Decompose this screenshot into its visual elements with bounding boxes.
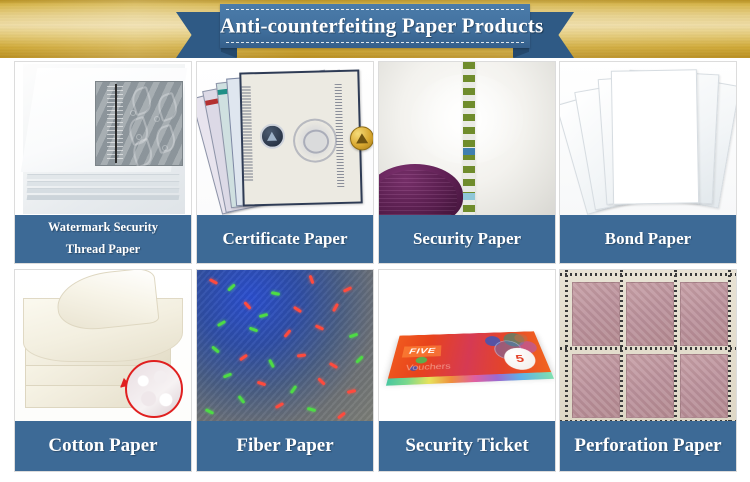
voucher-ticket-graphic: FIVE Vouchers 5 <box>387 331 551 380</box>
perforation-line <box>674 270 677 424</box>
product-image-bond-paper <box>560 62 736 216</box>
purple-spool-object <box>379 164 463 216</box>
bond-paper-graphic <box>560 62 736 216</box>
security-thread-line <box>115 84 117 163</box>
embossed-seal <box>293 118 338 163</box>
product-caption-cotton-paper: Cotton Paper <box>15 421 191 471</box>
watermark-dot <box>162 145 168 151</box>
product-image-perforation-paper <box>560 270 736 424</box>
caption-line-2: Thread Paper <box>48 239 158 261</box>
product-card-watermark-security-thread-paper[interactable]: Watermark Security Thread Paper <box>14 61 192 264</box>
perforation-line <box>620 270 623 424</box>
paper-texture-overlay <box>197 270 373 424</box>
paper-stack-graphic <box>23 64 185 214</box>
ribbon-banner: Anti-counterfeiting Paper Products <box>220 4 530 48</box>
cotton-sheet-folded-corner <box>54 270 159 333</box>
product-card-bond-paper[interactable]: Bond Paper <box>559 61 737 264</box>
stamp-panel <box>572 282 620 346</box>
sheet-edge <box>27 195 180 200</box>
watermark-dot <box>154 116 160 122</box>
product-image-fiber-paper <box>197 270 373 424</box>
product-caption-security-ticket: Security Ticket <box>379 421 555 471</box>
holographic-segment <box>463 193 475 200</box>
gold-seal <box>350 126 373 151</box>
fiber-paper-uv-graphic <box>197 270 373 424</box>
dark-seal <box>260 123 286 149</box>
ticket-brand-label: FIVE <box>402 345 442 357</box>
product-image-watermark-security-thread-paper <box>15 62 191 216</box>
bond-sheet-front <box>611 69 699 204</box>
page-title: Anti-counterfeiting Paper Products <box>220 14 530 39</box>
security-paper-graphic <box>379 62 555 216</box>
product-caption-perforation-paper: Perforation Paper <box>560 421 736 471</box>
stamp-panel <box>680 282 728 346</box>
product-image-security-ticket: FIVE Vouchers 5 <box>379 270 555 424</box>
sheet-edge <box>27 181 180 186</box>
perforation-line <box>728 270 731 424</box>
windowed-security-thread <box>463 62 475 216</box>
perforation-sheet-graphic <box>560 270 736 424</box>
watermark-dot <box>136 134 142 140</box>
ticket-backdrop: FIVE Vouchers 5 <box>379 270 555 424</box>
product-card-fiber-paper[interactable]: Fiber Paper <box>196 269 374 472</box>
stamp-panel <box>572 354 620 418</box>
page-banner: Anti-counterfeiting Paper Products <box>0 0 750 58</box>
product-caption-certificate-paper: Certificate Paper <box>197 215 373 263</box>
perforation-line <box>560 273 736 276</box>
cotton-fiber-magnifier-callout <box>125 360 183 418</box>
certificate-stack-graphic <box>197 62 373 216</box>
product-caption-fiber-paper: Fiber Paper <box>197 421 373 471</box>
product-image-certificate-paper <box>197 62 373 216</box>
stamp-panel <box>626 354 674 418</box>
holographic-segment <box>463 148 475 155</box>
watermark-dot <box>130 110 136 116</box>
product-image-cotton-paper <box>15 270 191 424</box>
certificate-sheet-front <box>239 69 362 206</box>
product-card-certificate-paper[interactable]: Certificate Paper <box>196 61 374 264</box>
product-card-security-paper[interactable]: Security Paper <box>378 61 556 264</box>
certificate-text-block <box>242 86 254 182</box>
holographic-edge-strip <box>386 372 554 386</box>
product-card-perforation-paper[interactable]: Perforation Paper <box>559 269 737 472</box>
product-caption-bond-paper: Bond Paper <box>560 215 736 263</box>
stamp-panel <box>626 282 674 346</box>
product-card-cotton-paper[interactable]: Cotton Paper <box>14 269 192 472</box>
perforation-line <box>565 270 568 424</box>
product-card-security-ticket[interactable]: FIVE Vouchers 5 Security Ticket <box>378 269 556 472</box>
cotton-paper-graphic <box>15 270 191 424</box>
product-caption-watermark-security-thread-paper: Watermark Security Thread Paper <box>15 215 191 263</box>
ticket-subtitle: Vouchers <box>405 362 451 372</box>
caption-line-1: Watermark Security <box>48 217 158 239</box>
sheet-edge <box>27 174 180 179</box>
product-image-security-paper <box>379 62 555 216</box>
stamp-panel <box>680 354 728 418</box>
sheet-edge <box>27 188 180 193</box>
product-caption-security-paper: Security Paper <box>379 215 555 263</box>
watermark-detail-inset <box>95 81 183 166</box>
product-grid: Watermark Security Thread Paper <box>0 58 750 482</box>
perforation-line <box>560 347 736 350</box>
